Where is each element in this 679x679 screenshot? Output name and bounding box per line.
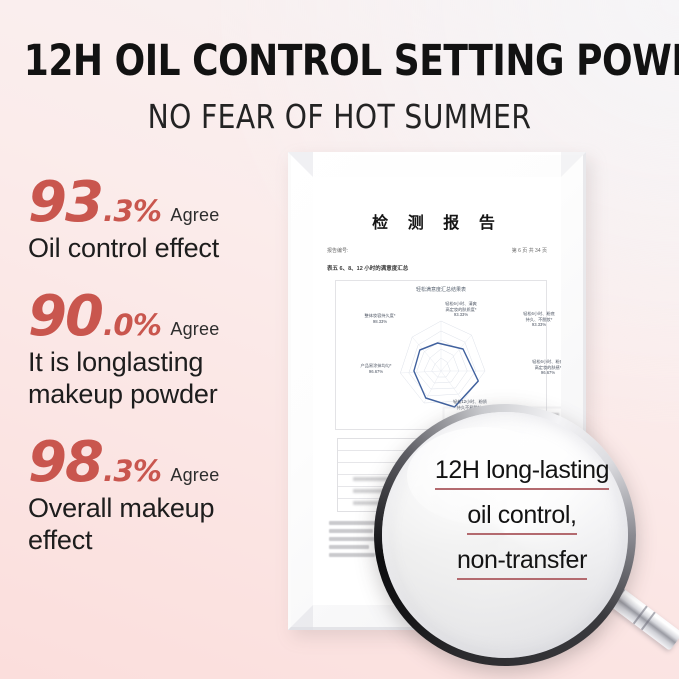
stat-agree-label: Agree <box>170 205 219 226</box>
text-line <box>329 537 377 541</box>
page-number-label: 第 6 页 共 34 页 <box>512 247 547 254</box>
stat-description: Oil control effect <box>28 233 296 265</box>
radar-axis-name: 轻松6小时、清爽高定妆的肤质度* <box>445 301 477 312</box>
magnifier-callout-text: 12H long-lasting oil control, non-transf… <box>374 456 670 591</box>
callout-line: non-transfer <box>457 546 587 575</box>
radar-axis-value: 98.33% <box>373 319 387 324</box>
stat-decimal: .0% <box>103 308 161 342</box>
statistics-list: 93 .3% Agree Oil control effect 90 .0% A… <box>28 176 296 583</box>
stat-headline: 90 .0% Agree <box>28 290 296 345</box>
radar-axis-name: 轻松6小时、粉底持久、不脱妆* <box>523 311 555 322</box>
chart-caption: 轻松满意度汇总结果表 <box>336 286 546 293</box>
radar-axis-name: 轻松6小时、粉底高定妆的肤感* <box>532 359 561 370</box>
stat-decimal: .3% <box>103 454 161 488</box>
document-title: 检 测 报 告 <box>313 209 561 233</box>
radar-axis-value: 96.67% <box>369 369 383 374</box>
stat-item: 90 .0% Agree It is longlastingmakeup pow… <box>28 290 296 410</box>
callout-line-text: oil control, <box>467 501 576 529</box>
stat-agree-label: Agree <box>170 319 219 340</box>
radar-axis-value: 96.67% <box>541 370 555 375</box>
text-line <box>329 529 373 533</box>
radar-grid <box>400 321 485 403</box>
stat-decimal: .3% <box>103 194 161 228</box>
document-section-heading: 表五 6、8、12 小时的满意度汇总 <box>313 264 561 272</box>
text-line <box>329 545 369 549</box>
magnifying-glass: 12H long-lasting oil control, non-transf… <box>374 404 670 679</box>
callout-line-text: 12H long-lasting <box>435 456 609 484</box>
radar-axis-label: 产品易涂抹均匀* 96.67% <box>340 363 412 374</box>
header: 12H OIL CONTROL SETTING POWDER NO FEAR O… <box>0 0 679 136</box>
radar-axis-value: 93.33% <box>532 322 546 327</box>
stat-description: Overall makeupeffect <box>28 493 296 556</box>
callout-line: 12H long-lasting <box>435 456 609 485</box>
stat-item: 93 .3% Agree Oil control effect <box>28 176 296 264</box>
stat-headline: 98 .3% Agree <box>28 436 296 491</box>
radar-axis-label: 轻松6小时、清爽高定妆的肤质度* 93.33% <box>422 301 500 318</box>
radar-axis-name: 整体妆容持久度* <box>365 313 396 318</box>
document-meta-row: 报告编号: 第 6 页 共 34 页 <box>313 247 561 254</box>
page-title: 12H OIL CONTROL SETTING POWDER <box>24 36 655 86</box>
stat-description: It is longlastingmakeup powder <box>28 347 296 410</box>
text-line <box>329 553 375 557</box>
stat-agree-label: Agree <box>170 465 219 486</box>
report-number-label: 报告编号: <box>327 247 348 254</box>
page-subtitle: NO FEAR OF HOT SUMMER <box>17 97 662 136</box>
stat-number: 93 <box>28 176 102 231</box>
stat-item: 98 .3% Agree Overall makeupeffect <box>28 436 296 556</box>
stat-number: 90 <box>28 290 102 345</box>
radar-axis-label: 整体妆容持久度* 98.33% <box>344 313 416 324</box>
radar-axis-label: 轻松6小时、粉底高定妆的肤感* 96.67% <box>514 359 561 376</box>
stat-headline: 93 .3% Agree <box>28 176 296 231</box>
stat-number: 98 <box>28 436 102 491</box>
radar-axis-name: 产品易涂抹均匀* <box>361 363 392 368</box>
callout-line: oil control, <box>467 501 576 530</box>
radar-axis-label: 轻松6小时、粉底持久、不脱妆* 93.33% <box>502 311 561 328</box>
radar-axis-value: 93.33% <box>454 312 468 317</box>
callout-line-text: non-transfer <box>457 546 587 574</box>
